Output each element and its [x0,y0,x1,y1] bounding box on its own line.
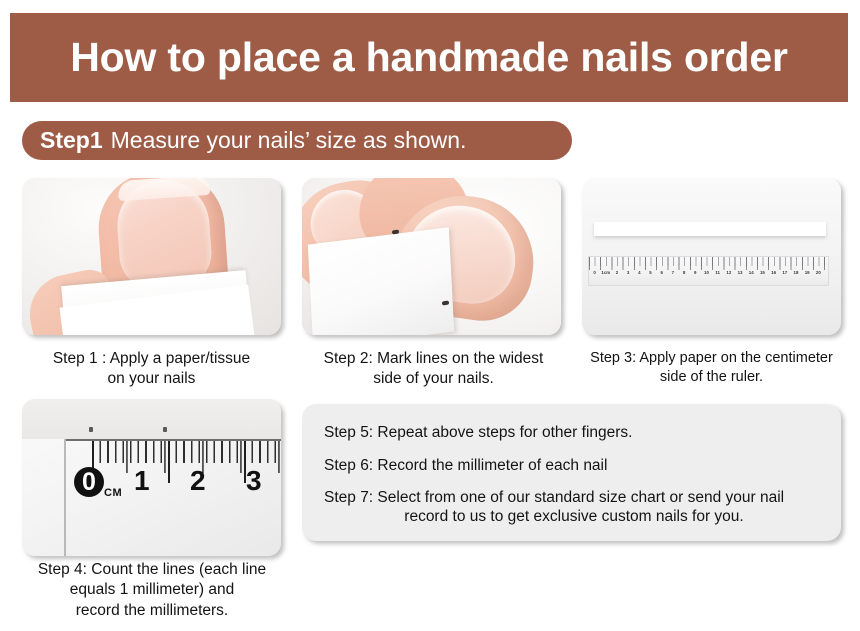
step7-text: Step 7: Select from one of our standard … [324,489,824,526]
photo-card-step1 [22,178,281,335]
step6-text: Step 6: Record the millimeter of each na… [324,457,824,476]
photo-card-step4: 0 CM 1 2 3 [22,399,281,556]
ruler-number-3: 3 [623,270,634,275]
ruler-upper-body [22,399,281,439]
ruler-mark-1: 1 [134,467,150,495]
ruler-number-19: 19 [802,270,813,275]
ruler-number-11: 11 [712,270,723,275]
ruler-number-18: 18 [790,270,801,275]
ruler-number-20: 20 [813,270,824,275]
ruler-number-5: 5 [645,270,656,275]
ruler-number-2: 2 [611,270,622,275]
ruler-number-4: 4 [634,270,645,275]
step5-text: Step 5: Repeat above steps for other fin… [324,424,824,443]
marked-paper-shape [308,227,454,335]
long-ruler-shape: 01cm234567891011121314151617181920 [588,256,829,286]
caption-step3: Step 3: Apply paper on the centimeter si… [570,349,853,387]
caption-step3-line2: side of the ruler. [570,368,853,387]
caption-step4-line2: equals 1 millimeter) and [8,580,296,600]
step1-description: Measure your nails’ size as shown. [111,129,467,152]
ruler-number-12: 12 [723,270,734,275]
caption-step1: Step 1 : Apply a paper/tissue on your na… [10,349,293,390]
paper-strip-shape [594,222,826,236]
ruler-number-16: 16 [768,270,779,275]
step7-text-line1: Step 7: Select from one of our standard … [324,489,824,508]
caption-step1-line2: on your nails [10,369,293,389]
ruler-number-15: 15 [757,270,768,275]
ruler-mark-2: 2 [190,467,206,495]
ruler-number-9: 9 [690,270,701,275]
ruler-number-6: 6 [656,270,667,275]
ruler-unit-label: CM [104,487,122,499]
step7-text-line2: record to us to get exclusive custom nai… [404,508,743,525]
ruler-number-13: 13 [734,270,745,275]
ruler-number-8: 8 [679,270,690,275]
photo-card-step3: 01cm234567891011121314151617181920 [582,178,841,335]
caption-step4-line3: record the millimeters. [8,601,296,621]
caption-step3-line1: Step 3: Apply paper on the centimeter [570,349,853,368]
ruler-number-10: 10 [701,270,712,275]
ruler-major-ticks [589,257,828,270]
ruler-number-17: 17 [779,270,790,275]
page-title: How to place a handmade nails order [70,37,788,78]
ruler-number-0: 0 [589,270,600,275]
step1-banner: Step1 Measure your nails’ size as shown. [22,121,572,160]
caption-step2-line1: Step 2: Mark lines on the widest [292,349,575,369]
step1-label: Step1 [40,129,103,152]
caption-step4-line1: Step 4: Count the lines (each line [8,560,296,580]
caption-step4: Step 4: Count the lines (each line equal… [8,560,296,621]
paper-mark-dot-left [89,427,93,432]
steps-list: Step 5: Repeat above steps for other fin… [324,424,824,526]
ruler-number-14: 14 [746,270,757,275]
ruler-left-edge [64,439,66,556]
caption-step2-line2: side of your nails. [292,369,575,389]
ruler-number-7: 7 [667,270,678,275]
caption-step1-line1: Step 1 : Apply a paper/tissue [10,349,293,369]
ruler-number-1: 1cm [600,270,611,275]
caption-step2: Step 2: Mark lines on the widest side of… [292,349,575,390]
ruler-number-row: 01cm234567891011121314151617181920 [589,270,828,275]
ruler-zero-marker: 0 [74,467,104,497]
header-banner: How to place a handmade nails order [10,13,848,102]
photo-card-step2 [302,178,561,335]
paper-mark-dot-right [163,427,167,432]
ruler-mark-3: 3 [246,467,262,495]
